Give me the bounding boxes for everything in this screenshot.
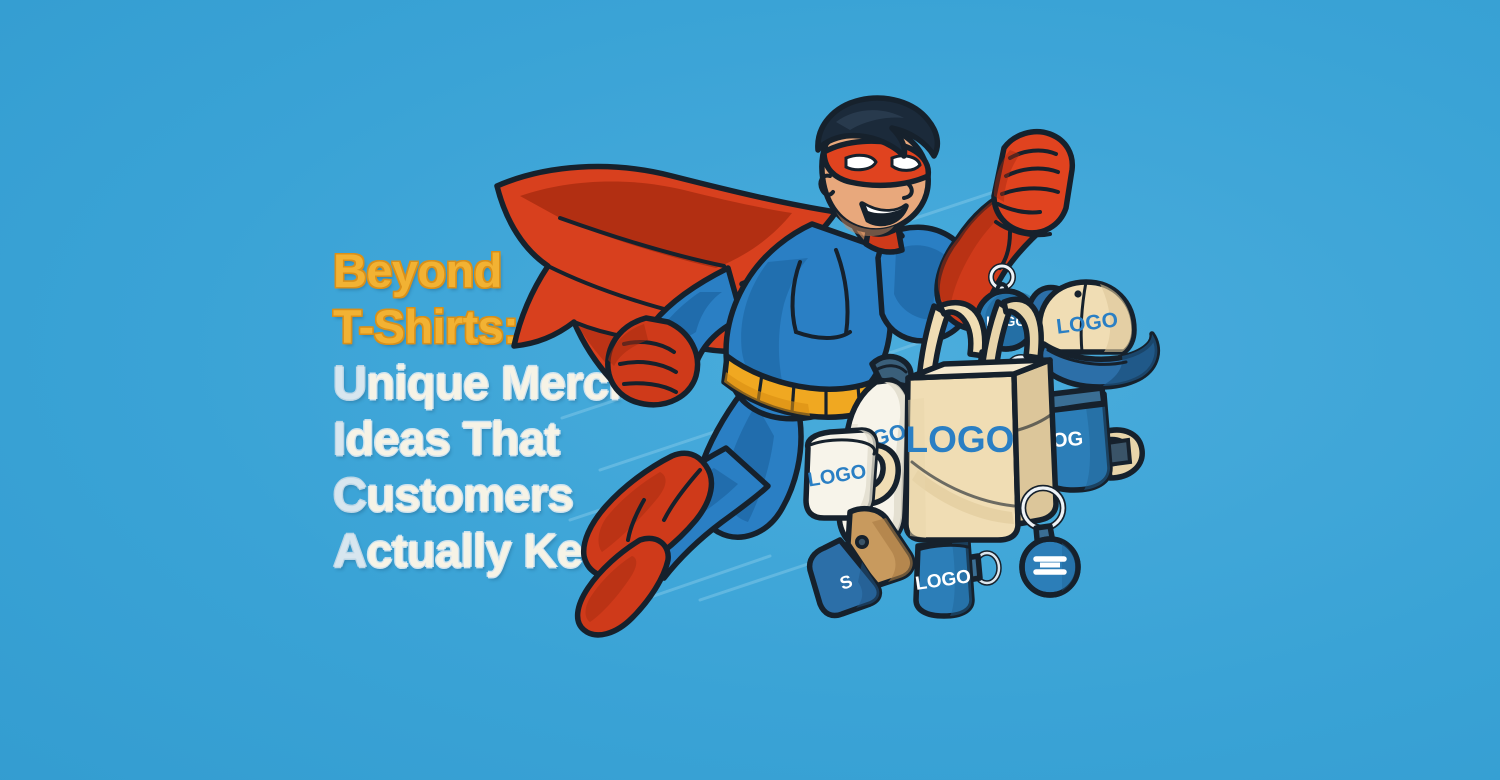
hero-banner: Beyond T-Shirts: Unique Merch Ideas That…: [0, 0, 1500, 780]
tote-bag-label: LOGO: [906, 419, 1015, 460]
merch-tote-bag: LOGO: [906, 299, 1056, 540]
superhero-merchandise-illustration: .ink { stroke:#16212c; stroke-width:5.5;…: [0, 0, 1500, 780]
merch-can-cooler: LOGO: [914, 542, 999, 616]
hero-legs: [578, 388, 801, 635]
